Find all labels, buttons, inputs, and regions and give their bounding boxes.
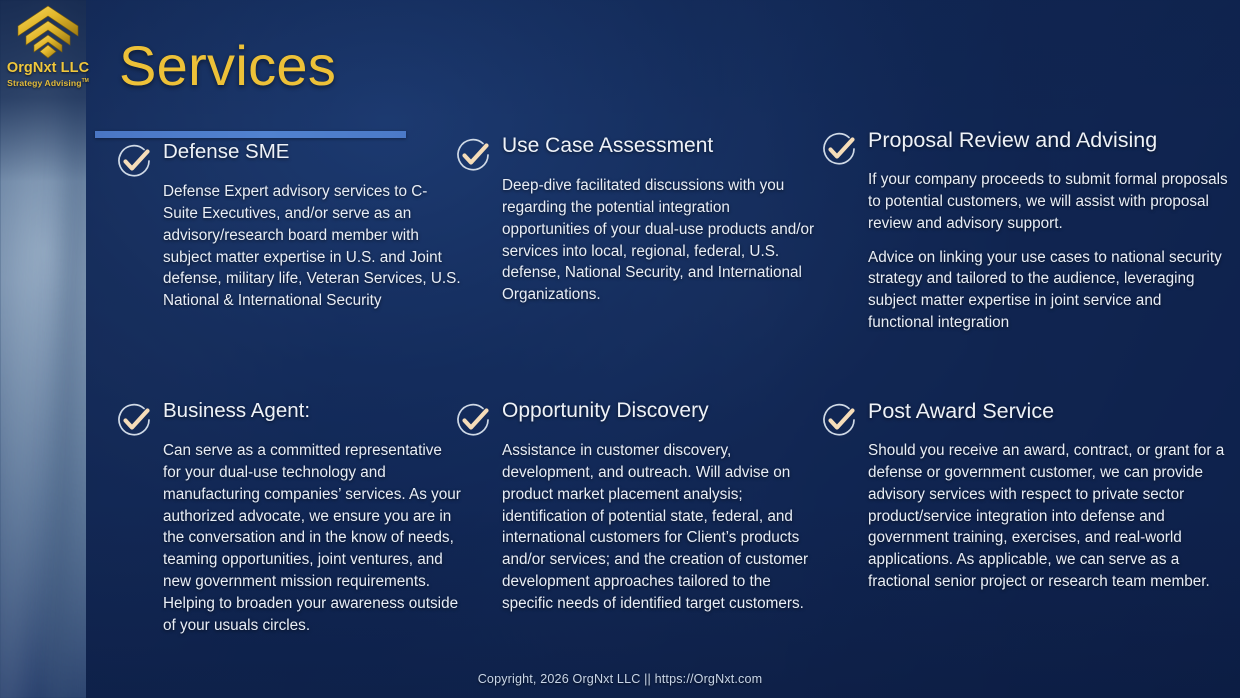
check-circle-icon bbox=[818, 399, 860, 441]
card-title: Proposal Review and Advising bbox=[868, 128, 1228, 153]
card-body: Defense Expert advisory services to C-Su… bbox=[163, 181, 461, 312]
card-title: Business Agent: bbox=[163, 399, 461, 423]
card-body: Should you receive an award, contract, o… bbox=[868, 440, 1228, 593]
card-header: Defense SME bbox=[113, 140, 461, 176]
service-card-defense-sme: Defense SME Defense Expert advisory serv… bbox=[113, 140, 461, 312]
service-card-use-case-assessment: Use Case Assessment Deep-dive facilitate… bbox=[452, 134, 820, 306]
service-card-post-award-service: Post Award Service Should you receive an… bbox=[818, 399, 1228, 593]
card-paragraph: Advice on linking your use cases to nati… bbox=[868, 247, 1228, 334]
card-header: Post Award Service bbox=[818, 399, 1228, 435]
card-header: Use Case Assessment bbox=[452, 134, 820, 170]
footer-copyright: Copyright, 2026 OrgNxt LLC || https://Or… bbox=[0, 672, 1240, 686]
card-paragraph: Defense Expert advisory services to C-Su… bbox=[163, 181, 461, 312]
card-body: Can serve as a committed representative … bbox=[163, 440, 461, 637]
card-paragraph: If your company proceeds to submit forma… bbox=[868, 169, 1228, 235]
card-header: Business Agent: bbox=[113, 399, 461, 435]
card-title: Use Case Assessment bbox=[502, 134, 820, 158]
card-title: Defense SME bbox=[163, 140, 461, 164]
check-circle-icon bbox=[452, 134, 494, 176]
services-slide: OrgNxt LLC Strategy AdvisingTM Services … bbox=[0, 0, 1240, 698]
card-title: Opportunity Discovery bbox=[502, 399, 820, 423]
check-circle-icon bbox=[452, 399, 494, 441]
check-circle-icon bbox=[113, 399, 155, 441]
service-card-proposal-review-and-advising: Proposal Review and Advising If your com… bbox=[818, 128, 1228, 334]
card-header: Opportunity Discovery bbox=[452, 399, 820, 435]
card-title: Post Award Service bbox=[868, 399, 1228, 424]
card-body: Assistance in customer discovery, develo… bbox=[502, 440, 820, 615]
service-card-opportunity-discovery: Opportunity Discovery Assistance in cust… bbox=[452, 399, 820, 615]
card-paragraph: Should you receive an award, contract, o… bbox=[868, 440, 1228, 593]
service-card-business-agent: Business Agent: Can serve as a committed… bbox=[113, 399, 461, 637]
card-paragraph: Assistance in customer discovery, develo… bbox=[502, 440, 820, 615]
card-paragraph: Can serve as a committed representative … bbox=[163, 440, 461, 637]
card-body: Deep-dive facilitated discussions with y… bbox=[502, 175, 820, 306]
card-paragraph: Deep-dive facilitated discussions with y… bbox=[502, 175, 820, 306]
card-body: If your company proceeds to submit forma… bbox=[868, 169, 1228, 334]
services-grid: Defense SME Defense Expert advisory serv… bbox=[0, 0, 1240, 698]
card-header: Proposal Review and Advising bbox=[818, 128, 1228, 164]
check-circle-icon bbox=[113, 140, 155, 182]
check-circle-icon bbox=[818, 128, 860, 170]
